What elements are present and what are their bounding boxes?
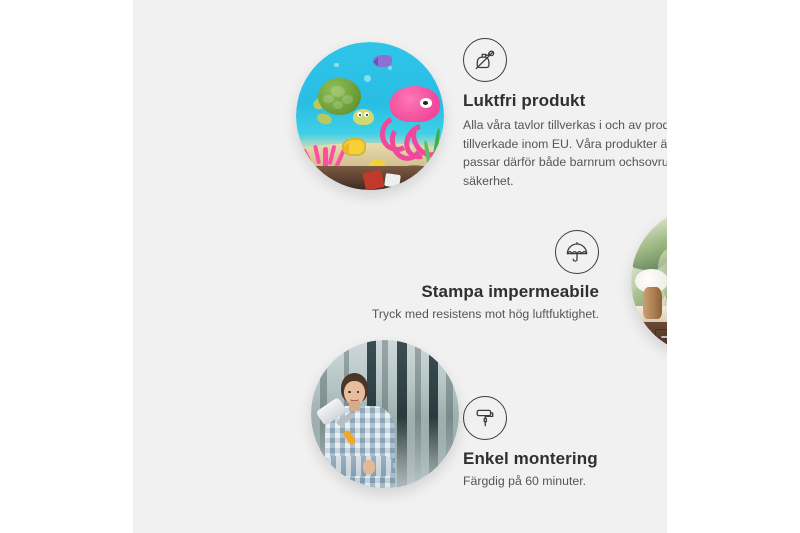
painter-woman-forest-photo xyxy=(311,340,459,488)
feature-description: Alla våra tavlor tillverkas i och av pro… xyxy=(463,116,667,191)
feature-title: Luktfri produkt xyxy=(463,91,667,111)
feature-description: Tryck med resistens mot hög luftfuktighe… xyxy=(343,305,599,324)
page-root: Luktfri produkt Alla våra tavlor tillver… xyxy=(0,0,800,533)
yellow-fish-icon xyxy=(342,138,366,156)
no-odour-spray-bottle-icon xyxy=(463,38,507,82)
feature-block-waterproof: Stampa impermeabile Tryck med resistens … xyxy=(343,230,599,324)
content-panel: Luktfri produkt Alla våra tavlor tillver… xyxy=(133,0,667,533)
purple-fish-icon xyxy=(373,55,392,67)
woman-figure xyxy=(320,373,400,488)
bathroom-vanity-photo xyxy=(631,207,667,355)
folded-arms xyxy=(326,456,393,477)
umbrella-icon xyxy=(555,230,599,274)
icon-wrap xyxy=(463,396,667,440)
octopus-icon xyxy=(376,86,441,154)
icon-wrap xyxy=(343,230,599,274)
bubble-icon xyxy=(334,63,338,67)
vanity-cabinet xyxy=(643,322,667,355)
feature-block-odourless: Luktfri produkt Alla våra tavlor tillver… xyxy=(463,38,667,191)
feature-title: Stampa impermeabile xyxy=(343,282,599,302)
icon-wrap xyxy=(463,38,667,82)
feature-block-easy-assembly: Enkel montering Färgdig på 60 minuter. xyxy=(463,396,667,491)
feature-description: Färgdig på 60 minuter. xyxy=(463,472,667,491)
feature-title: Enkel montering xyxy=(463,449,667,469)
turtle-icon xyxy=(312,78,371,127)
neck xyxy=(349,401,360,410)
vase xyxy=(643,287,662,320)
hand xyxy=(363,460,375,474)
underwater-cartoon-photo xyxy=(296,42,444,190)
paint-roller-icon xyxy=(463,396,507,440)
foreground-object xyxy=(362,169,385,190)
foreground-object xyxy=(384,173,401,188)
